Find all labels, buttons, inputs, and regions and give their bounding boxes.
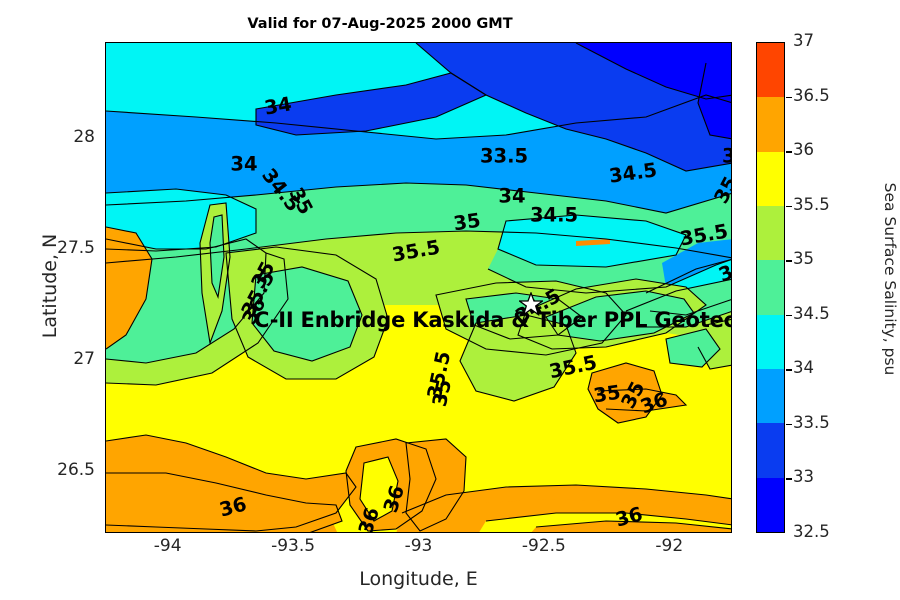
x-axis-label: Longitude, E bbox=[105, 568, 732, 590]
colorbar-band bbox=[757, 260, 784, 314]
colorbar-band bbox=[757, 97, 784, 151]
colorbar-tick-label: 34.5 bbox=[793, 304, 830, 323]
contour-field bbox=[106, 43, 732, 533]
colorbar-tick-label: 33 bbox=[793, 467, 814, 486]
colorbar-tick-label: 32.5 bbox=[793, 522, 830, 541]
colorbar-tick-mark bbox=[786, 369, 792, 370]
site-annotation-label: C-II Enbridge Kaskida & Tiber PPL Geotec… bbox=[254, 308, 732, 332]
colorbar-tick-label: 35.5 bbox=[793, 195, 830, 214]
contour-plot-area: 34343333.533.53434.53534.53535.53434.535… bbox=[105, 42, 732, 533]
colorbar-band bbox=[757, 478, 784, 532]
colorbar-tick-mark bbox=[786, 97, 792, 98]
star-marker bbox=[519, 292, 543, 316]
contour-label: 34 bbox=[230, 153, 257, 176]
colorbar-band bbox=[757, 152, 784, 206]
page-title: Valid for 07-Aug-2025 2000 GMT bbox=[0, 16, 760, 32]
contour-label: 33.5 bbox=[722, 145, 732, 168]
contour-label: 33.5 bbox=[480, 145, 528, 168]
x-tick-label: -93.5 bbox=[248, 536, 338, 556]
colorbar-band bbox=[757, 43, 784, 97]
colorbar-tick-mark bbox=[786, 260, 792, 261]
x-tick-label: -94 bbox=[123, 536, 213, 556]
x-tick-label: -92.5 bbox=[499, 536, 589, 556]
contour-plot-page: Valid for 07-Aug-2025 2000 GMT bbox=[0, 0, 900, 600]
colorbar-tick-label: 33.5 bbox=[793, 413, 830, 432]
colorbar-band bbox=[757, 369, 784, 423]
colorbar-tick-mark bbox=[786, 315, 792, 316]
colorbar-tick-label: 36.5 bbox=[793, 86, 830, 105]
contour-label: 35 bbox=[592, 381, 622, 408]
colorbar bbox=[756, 42, 785, 533]
contour-label: 34 bbox=[498, 185, 525, 208]
y-tick-label: 26.5 bbox=[25, 460, 95, 480]
colorbar-tick-mark bbox=[786, 151, 792, 152]
y-tick-label: 28 bbox=[25, 127, 95, 147]
contour-label: 34 bbox=[263, 92, 294, 119]
y-axis-label: Latitude, N bbox=[39, 156, 61, 416]
colorbar-tick-mark bbox=[786, 424, 792, 425]
colorbar-tick-label: 37 bbox=[793, 31, 814, 50]
colorbar-tick-label: 35 bbox=[793, 249, 814, 268]
colorbar-tick-label: 36 bbox=[793, 140, 814, 159]
colorbar-band bbox=[757, 423, 784, 477]
colorbar-tick-label: 34 bbox=[793, 358, 814, 377]
x-tick-label: -93 bbox=[374, 536, 464, 556]
colorbar-band bbox=[757, 315, 784, 369]
colorbar-band bbox=[757, 206, 784, 260]
contour-label: 35 bbox=[452, 209, 482, 236]
x-tick-label: -92 bbox=[624, 536, 714, 556]
contour-label: 34.5 bbox=[530, 204, 578, 227]
colorbar-tick-mark bbox=[786, 206, 792, 207]
colorbar-title: Sea Surface Salinity, psu bbox=[881, 149, 899, 409]
colorbar-tick-mark bbox=[786, 478, 792, 479]
